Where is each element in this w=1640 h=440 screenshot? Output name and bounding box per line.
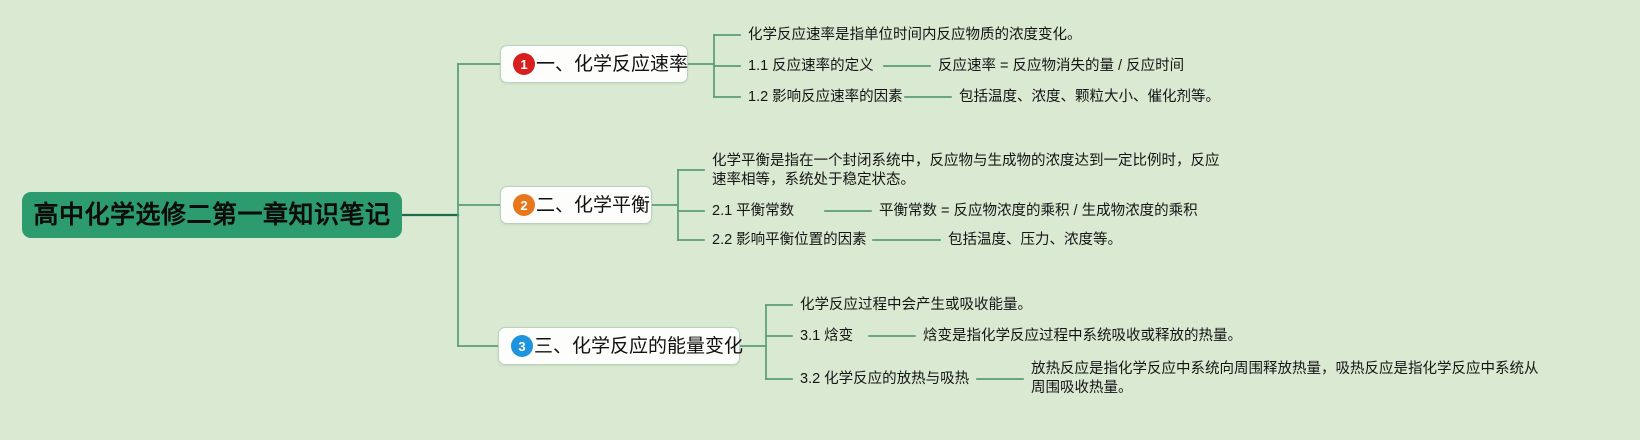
branch-1-leaf-2-text[interactable]: 1.1 反应速率的定义 <box>748 57 874 76</box>
branch-3-label: 三、化学反应的能量变化 <box>534 337 743 356</box>
branch-node-2[interactable]: 2 二、化学平衡 <box>500 186 652 224</box>
branch-2-number-badge: 2 <box>513 194 535 216</box>
branch-2-label: 二、化学平衡 <box>536 196 650 215</box>
branch-1-label: 一、化学反应速率 <box>536 55 688 74</box>
branch-2-leaf-2-desc[interactable]: 平衡常数 = 反应物浓度的乘积 / 生成物浓度的乘积 <box>879 202 1198 221</box>
branch-2-leaf-3-text[interactable]: 2.2 影响平衡位置的因素 <box>712 231 867 250</box>
branch-3-leaf-2-text[interactable]: 3.1 焓变 <box>800 327 853 346</box>
branch-node-3[interactable]: 3 三、化学反应的能量变化 <box>498 327 740 365</box>
branch-node-1[interactable]: 1 一、化学反应速率 <box>500 45 688 83</box>
branch-1-leaf-3-text[interactable]: 1.2 影响反应速率的因素 <box>748 88 903 107</box>
branch-3-leaf-2-desc[interactable]: 焓变是指化学反应过程中系统吸收或释放的热量。 <box>923 327 1242 346</box>
branch-1-leaf-1-text[interactable]: 化学反应速率是指单位时间内反应物质的浓度变化。 <box>748 26 1082 45</box>
branch-1-number-badge: 1 <box>513 53 535 75</box>
branch-3-leaf-3-desc[interactable]: 放热反应是指化学反应中系统向周围释放热量，吸热反应是指化学反应中系统从 周围吸收… <box>1031 360 1539 398</box>
branch-2-leaf-1-text[interactable]: 化学平衡是指在一个封闭系统中，反应物与生成物的浓度达到一定比例时，反应 速率相等… <box>712 152 1220 190</box>
root-node-label: 高中化学选修二第一章知识笔记 <box>33 203 390 228</box>
branch-3-number-badge: 3 <box>511 335 533 357</box>
branch-3-leaf-1-text[interactable]: 化学反应过程中会产生或吸收能量。 <box>800 296 1032 315</box>
branch-2-leaf-3-desc[interactable]: 包括温度、压力、浓度等。 <box>948 231 1122 250</box>
mindmap-canvas: 高中化学选修二第一章知识笔记 1 一、化学反应速率 化学反应速率是指单位时间内反… <box>0 0 1640 440</box>
branch-1-leaf-2-desc[interactable]: 反应速率 = 反应物消失的量 / 反应时间 <box>938 57 1184 76</box>
branch-2-leaf-2-text[interactable]: 2.1 平衡常数 <box>712 202 794 221</box>
branch-3-leaf-3-text[interactable]: 3.2 化学反应的放热与吸热 <box>800 370 969 389</box>
branch-1-leaf-3-desc[interactable]: 包括温度、浓度、颗粒大小、催化剂等。 <box>959 88 1220 107</box>
root-node[interactable]: 高中化学选修二第一章知识笔记 <box>22 192 402 238</box>
